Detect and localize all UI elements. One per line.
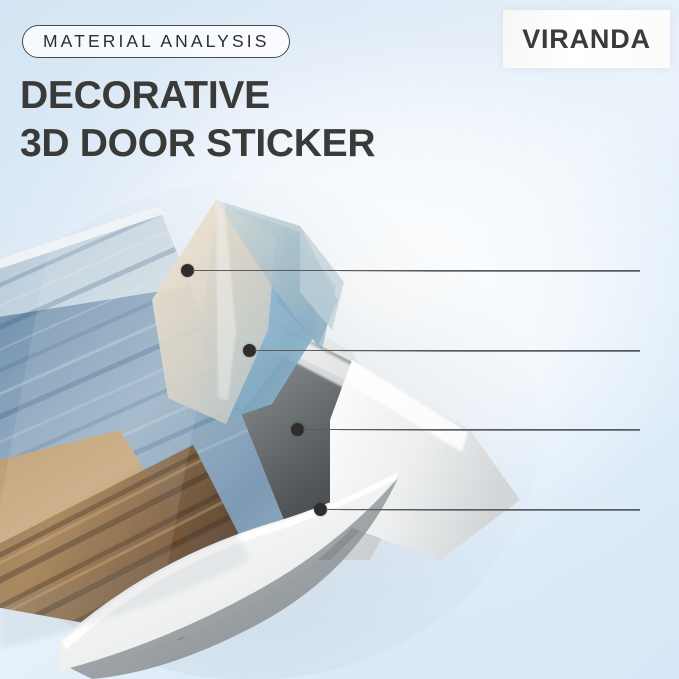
callout-rule-1 bbox=[340, 271, 640, 272]
title-line-2: 3D DOOR STICKER bbox=[20, 120, 375, 168]
poster-canvas: MATERIAL ANALYSIS DECORATIVE 3D DOOR STI… bbox=[0, 0, 679, 679]
eyebrow-badge: MATERIAL ANALYSIS bbox=[22, 25, 290, 58]
callout-rule-4 bbox=[340, 510, 640, 511]
brand-name: VIRANDA bbox=[522, 24, 651, 55]
eyebrow-label: MATERIAL ANALYSIS bbox=[43, 31, 269, 52]
callout-rule-2 bbox=[340, 351, 640, 352]
brand-logo: VIRANDA bbox=[503, 10, 670, 68]
title-line-1: DECORATIVE bbox=[20, 74, 270, 117]
page-title: DECORATIVE 3D DOOR STICKER bbox=[20, 72, 375, 168]
callout-rule-3 bbox=[340, 430, 640, 431]
